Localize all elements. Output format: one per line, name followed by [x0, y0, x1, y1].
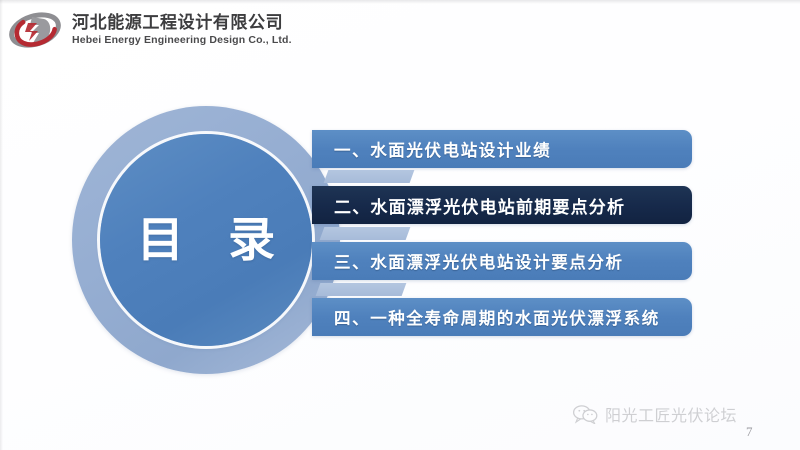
- toc-item-2-label: 二、水面漂浮光伏电站前期要点分析: [312, 193, 625, 218]
- toc-item-2[interactable]: 二、水面漂浮光伏电站前期要点分析: [312, 186, 692, 224]
- watermark: 阳光工匠光伏论坛: [572, 402, 737, 426]
- watermark-text: 阳光工匠光伏论坛: [605, 402, 737, 426]
- wechat-icon: [572, 404, 598, 424]
- hebei-energy-logo-icon: [8, 8, 62, 52]
- toc-item-1-label: 一、水面光伏电站设计业绩: [312, 137, 551, 161]
- company-logo: [8, 8, 62, 52]
- toc-item-3[interactable]: 三、水面漂浮光伏电站设计要点分析: [312, 242, 692, 280]
- company-name-en: Hebei Energy Engineering Design Co., Ltd…: [72, 33, 292, 48]
- header: 河北能源工程设计有限公司 Hebei Energy Engineering De…: [8, 8, 292, 52]
- toc-item-4[interactable]: 四、一种全寿命周期的水面光伏漂浮系统: [312, 298, 692, 336]
- toc-connector-2: [320, 227, 411, 240]
- slide-canvas: 河北能源工程设计有限公司 Hebei Energy Engineering De…: [0, 0, 800, 450]
- company-name-cn: 河北能源工程设计有限公司: [72, 13, 292, 33]
- slide-left-edge-shading: [0, 0, 3, 450]
- toc-item-3-label: 三、水面漂浮光伏电站设计要点分析: [312, 249, 624, 273]
- toc-connector-1: [324, 170, 415, 183]
- company-name-block: 河北能源工程设计有限公司 Hebei Energy Engineering De…: [72, 13, 292, 48]
- toc-circle: 目 录: [100, 134, 312, 346]
- page-number: 7: [746, 424, 753, 440]
- page-title: 目 录: [123, 217, 289, 264]
- toc-item-4-label: 四、一种全寿命周期的水面光伏漂浮系统: [312, 305, 660, 329]
- toc-item-1[interactable]: 一、水面光伏电站设计业绩: [312, 130, 692, 168]
- toc-connector-3: [316, 283, 407, 296]
- toc-list: 一、水面光伏电站设计业绩 二、水面漂浮光伏电站前期要点分析 三、水面漂浮光伏电站…: [312, 130, 692, 336]
- slide-top-edge-shading: [0, 0, 800, 4]
